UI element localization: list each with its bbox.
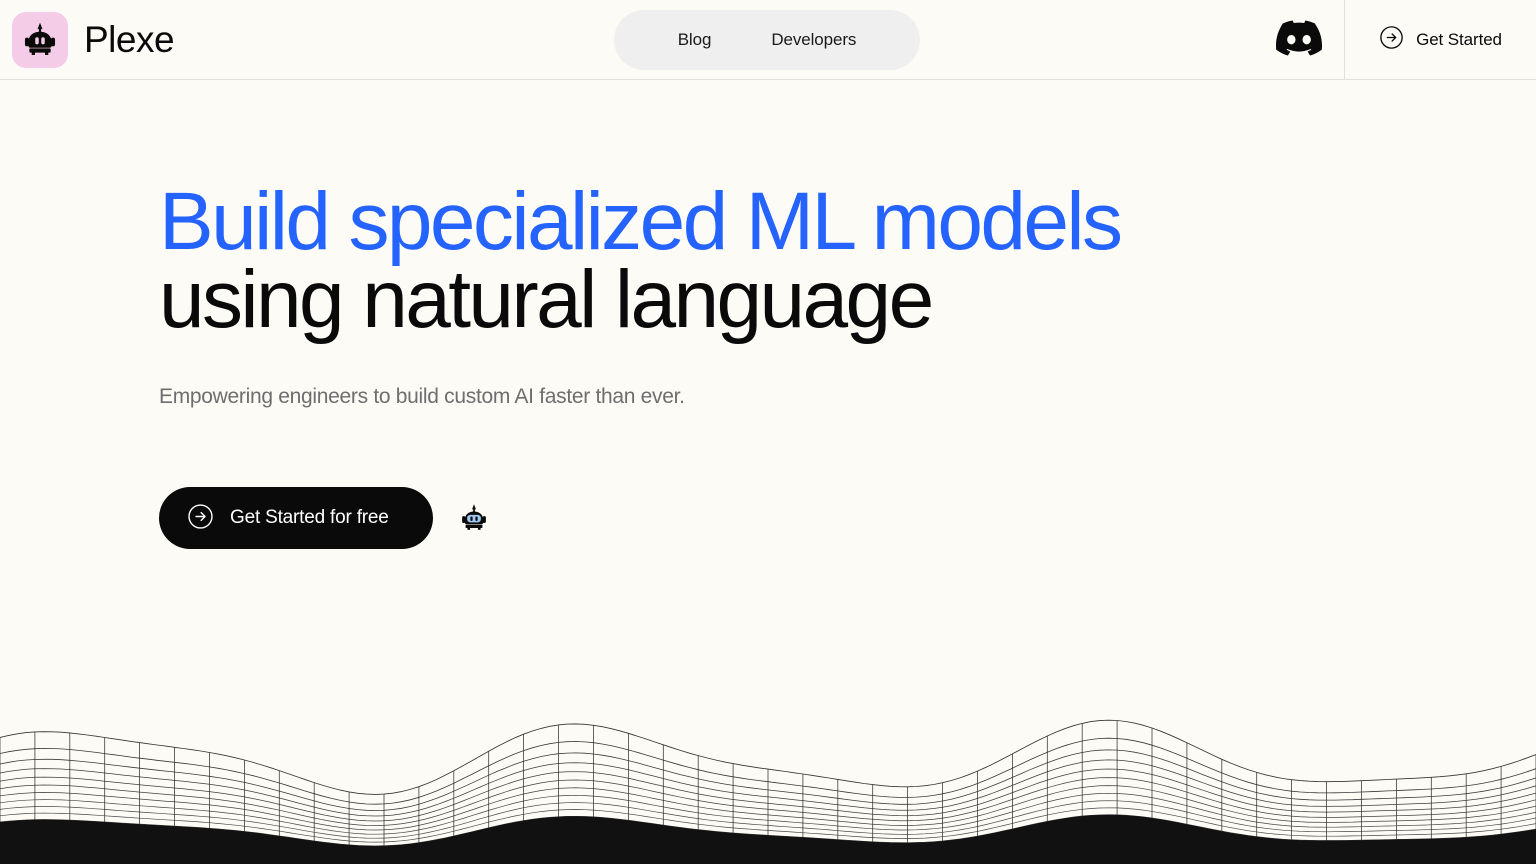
hero-subtitle: Empowering engineers to build custom AI … bbox=[159, 383, 1359, 410]
hero-get-started-label: Get Started for free bbox=[230, 507, 389, 529]
primary-nav: Blog Developers bbox=[614, 10, 920, 70]
header-get-started-label: Get Started bbox=[1416, 30, 1502, 50]
nav-item-developers[interactable]: Developers bbox=[771, 30, 856, 50]
hero-headline-line-2: using natural language bbox=[159, 261, 1359, 339]
discord-link[interactable] bbox=[1276, 22, 1322, 58]
nav-item-blog[interactable]: Blog bbox=[678, 30, 712, 50]
site-header: Plexe Blog Developers Get Started bbox=[0, 0, 1536, 80]
header-get-started-button[interactable]: Get Started bbox=[1345, 0, 1536, 80]
hero-headline: Build specialized ML models using natura… bbox=[159, 183, 1359, 339]
discord-icon bbox=[1276, 20, 1322, 61]
robot-head-blue-icon bbox=[459, 503, 489, 533]
brand-name: Plexe bbox=[84, 21, 174, 58]
hero-get-started-button[interactable]: Get Started for free bbox=[159, 487, 433, 549]
wireframe-mesh-wave bbox=[0, 719, 1536, 864]
brand-logo-link[interactable]: Plexe bbox=[12, 12, 174, 68]
circle-arrow-right-icon bbox=[1379, 25, 1404, 55]
hero-section: Build specialized ML models using natura… bbox=[159, 80, 1359, 549]
circle-arrow-right-icon bbox=[187, 503, 214, 533]
robot-head-icon bbox=[12, 12, 68, 68]
hero-headline-line-1: Build specialized ML models bbox=[159, 183, 1359, 261]
hero-cta-row: Get Started for free bbox=[159, 487, 1359, 549]
